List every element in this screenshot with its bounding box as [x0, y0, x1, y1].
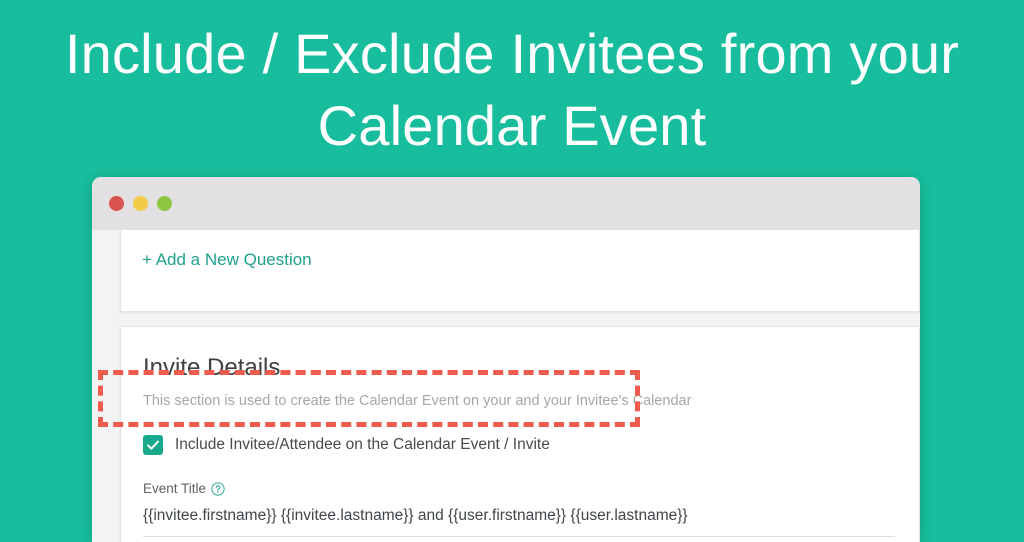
- maximize-icon[interactable]: [157, 196, 172, 211]
- questions-card: + Add a New Question: [120, 230, 920, 312]
- event-title-input[interactable]: {{invitee.firstname}} {{invitee.lastname…: [143, 505, 895, 537]
- add-new-question-link[interactable]: + Add a New Question: [142, 250, 312, 270]
- page-title: Include / Exclude Invitees from your Cal…: [0, 18, 1024, 162]
- invite-details-subtitle: This section is used to create the Calen…: [143, 391, 895, 411]
- include-invitee-row[interactable]: Include Invitee/Attendee on the Calendar…: [143, 433, 895, 457]
- include-invitee-checkbox[interactable]: [143, 435, 163, 455]
- invite-details-heading: Invite Details: [143, 353, 895, 383]
- event-title-field: Event Title {{invitee.firstname}} {{invi…: [143, 480, 895, 537]
- browser-window: + Add a New Question Invite Details This…: [92, 177, 920, 542]
- invite-details-card: Invite Details This section is used to c…: [120, 326, 920, 542]
- help-circle-icon[interactable]: [211, 482, 225, 496]
- traffic-lights: [109, 196, 172, 211]
- close-icon[interactable]: [109, 196, 124, 211]
- screenshot-stage: Include / Exclude Invitees from your Cal…: [0, 0, 1024, 542]
- include-invitee-label: Include Invitee/Attendee on the Calendar…: [175, 435, 550, 455]
- minimize-icon[interactable]: [133, 196, 148, 211]
- browser-titlebar: [92, 177, 920, 230]
- event-title-label: Event Title: [143, 480, 206, 498]
- checkmark-icon: [146, 438, 160, 452]
- browser-viewport: + Add a New Question Invite Details This…: [92, 230, 920, 542]
- event-title-label-row: Event Title: [143, 480, 895, 498]
